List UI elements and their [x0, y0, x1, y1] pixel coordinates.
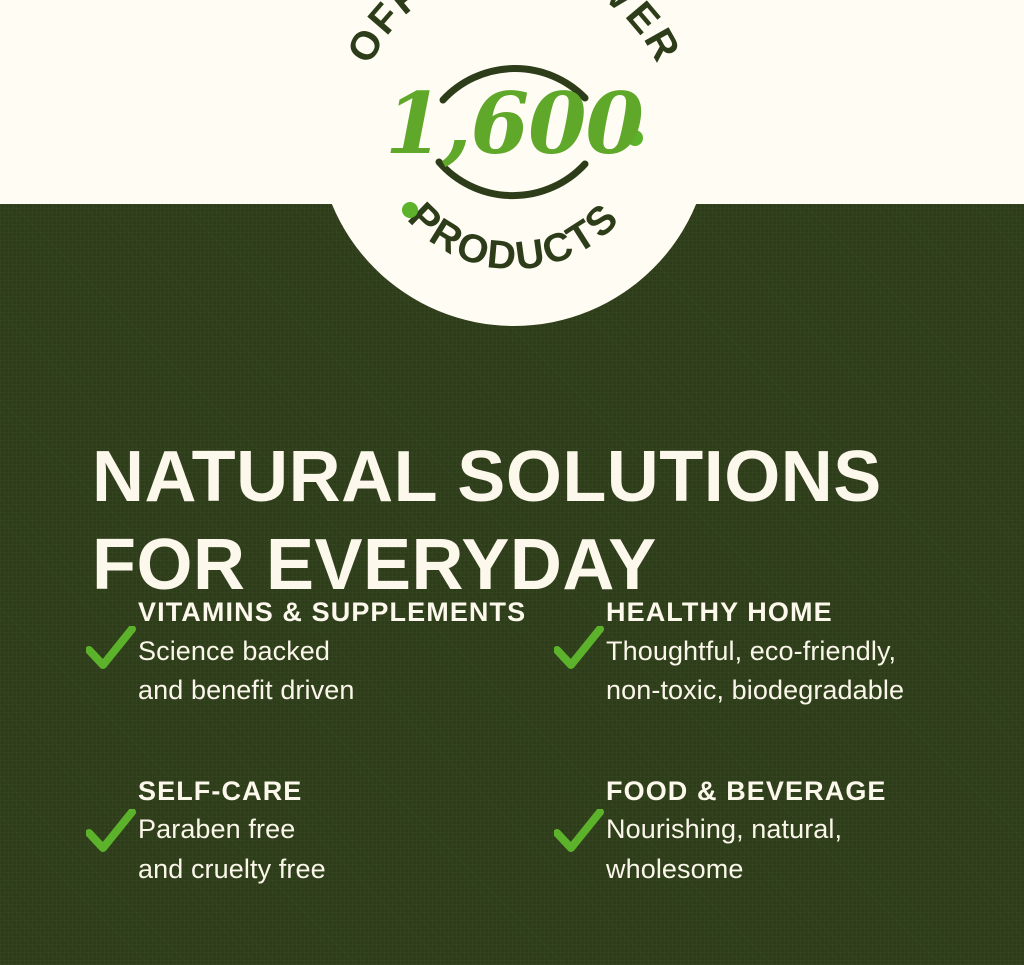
feature-title-line: VITAMINS &	[138, 597, 303, 627]
badge-arc-top-text: OFFERING OVER	[339, 0, 689, 70]
page-title: NATURAL SOLUTIONS FOR EVERYDAY	[92, 434, 972, 610]
feature-desc-line: Science backed	[138, 632, 538, 671]
product-count-badge: OFFERING OVER PRODUCTS 1,600	[317, 0, 711, 326]
feature-text: HEALTHY HOME Thoughtful, eco-friendly, n…	[606, 592, 1006, 711]
feature-desc-line: non-toxic, biodegradable	[606, 671, 1006, 710]
feature-item-vitamins-supplements: VITAMINS & SUPPLEMENTS Science backed an…	[86, 592, 538, 711]
check-icon	[86, 771, 138, 853]
feature-desc-line: and benefit driven	[138, 671, 538, 710]
feature-title: FOOD & BEVERAGE	[606, 773, 1006, 810]
feature-description: Science backed and benefit driven	[138, 632, 538, 711]
feature-description: Nourishing, natural, wholesome	[606, 810, 1006, 889]
feature-item-self-care: SELF-CARE Paraben free and cruelty free	[86, 771, 538, 890]
feature-title-line: SELF-CARE	[138, 776, 302, 806]
feature-description: Paraben free and cruelty free	[138, 810, 538, 889]
feature-desc-line: wholesome	[606, 850, 1006, 889]
check-icon	[554, 771, 606, 853]
feature-title-line: HEALTHY HOME	[606, 597, 833, 627]
feature-description: Thoughtful, eco-friendly, non-toxic, bio…	[606, 632, 1006, 711]
badge-arc-bottom-text: PRODUCTS	[400, 194, 628, 279]
feature-title-line: SUPPLEMENTS	[312, 597, 527, 627]
feature-title: SELF-CARE	[138, 773, 538, 810]
feature-desc-line: Paraben free	[138, 810, 538, 849]
feature-item-food-beverage: FOOD & BEVERAGE Nourishing, natural, who…	[554, 771, 1006, 890]
feature-title: VITAMINS & SUPPLEMENTS	[138, 594, 538, 631]
feature-text: FOOD & BEVERAGE Nourishing, natural, who…	[606, 771, 1006, 890]
feature-item-healthy-home: HEALTHY HOME Thoughtful, eco-friendly, n…	[554, 592, 1006, 711]
check-icon	[554, 592, 606, 670]
promo-poster: OFFERING OVER PRODUCTS 1,600 NATURAL SOL…	[0, 0, 1024, 965]
badge-product-count: 1,600	[317, 82, 711, 166]
feature-title-line: FOOD & BEVERAGE	[606, 776, 887, 806]
feature-desc-line: Thoughtful, eco-friendly,	[606, 632, 1006, 671]
feature-text: VITAMINS & SUPPLEMENTS Science backed an…	[138, 592, 538, 711]
feature-desc-line: Nourishing, natural,	[606, 810, 1006, 849]
feature-title: HEALTHY HOME	[606, 594, 1006, 631]
feature-text: SELF-CARE Paraben free and cruelty free	[138, 771, 538, 890]
feature-list: VITAMINS & SUPPLEMENTS Science backed an…	[86, 592, 1006, 889]
check-icon	[86, 592, 138, 670]
headline-line-1: NATURAL SOLUTIONS	[92, 434, 972, 522]
separator-dot-left-icon	[402, 202, 418, 218]
feature-desc-line: and cruelty free	[138, 850, 538, 889]
